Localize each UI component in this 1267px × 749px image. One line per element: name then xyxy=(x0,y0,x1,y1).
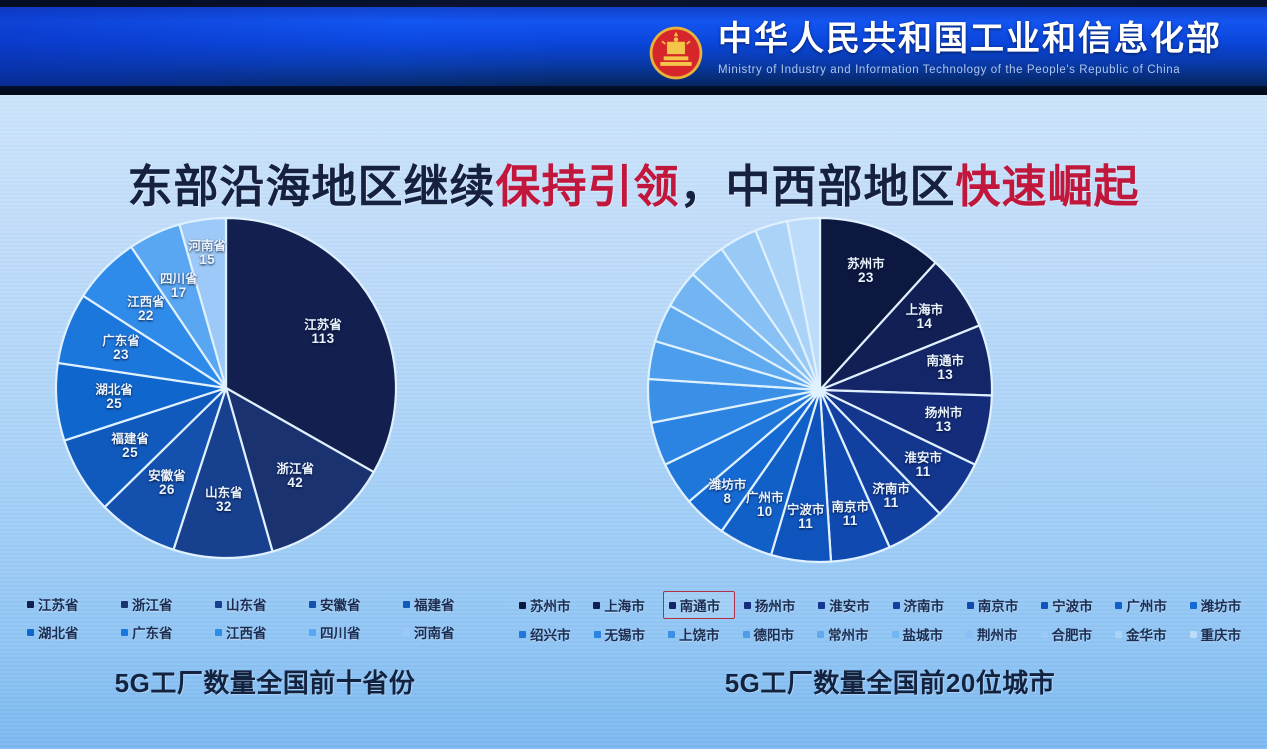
legend-label: 广州市 xyxy=(1126,595,1167,615)
headline-segment-3: ，中西部地区 xyxy=(680,161,956,212)
legend-item[interactable]: 扬州市 xyxy=(739,591,809,619)
legend-row: 苏州市上海市南通市扬州市淮安市济南市南京市宁波市广州市潍坊市 xyxy=(512,590,1257,620)
legend-item-highlighted[interactable]: 南通市 xyxy=(663,591,735,619)
legend-label: 盐城市 xyxy=(903,624,944,644)
screen-top-bezel xyxy=(0,0,1267,7)
legend-item[interactable]: 南京市 xyxy=(962,591,1032,619)
legend-item[interactable]: 江西省 xyxy=(210,619,300,645)
legend-swatch-icon xyxy=(966,631,973,638)
legend-swatch-icon xyxy=(519,602,526,609)
legend-swatch-icon xyxy=(744,602,751,609)
legend-label: 南通市 xyxy=(680,595,721,615)
legend-swatch-icon xyxy=(1115,631,1122,638)
legend-item[interactable]: 绍兴市 xyxy=(514,621,585,647)
pie-svg-provinces xyxy=(53,215,399,561)
legend-item[interactable]: 四川省 xyxy=(304,619,394,645)
legend-swatch-icon xyxy=(743,631,750,638)
legend-label: 淮安市 xyxy=(829,595,870,615)
legend-item[interactable]: 上饶市 xyxy=(663,621,734,647)
legend-label: 南京市 xyxy=(978,595,1019,615)
legend-label: 浙江省 xyxy=(132,594,173,614)
slide-screenshot: 中华人民共和国工业和信息化部 Ministry of Industry and … xyxy=(0,0,1267,749)
legend-swatch-icon xyxy=(403,601,410,608)
legend-label: 湖北省 xyxy=(38,622,79,642)
legend-item[interactable]: 广东省 xyxy=(116,619,206,645)
legend-provinces: 江苏省浙江省山东省安徽省福建省湖北省广东省江西省四川省河南省 xyxy=(20,590,490,646)
legend-label: 福建省 xyxy=(414,594,455,614)
legend-swatch-icon xyxy=(967,602,974,609)
legend-swatch-icon xyxy=(892,631,899,638)
legend-swatch-icon xyxy=(594,631,601,638)
legend-swatch-icon xyxy=(669,602,676,609)
legend-swatch-icon xyxy=(1190,631,1197,638)
legend-item[interactable]: 湖北省 xyxy=(22,619,112,645)
legend-label: 江苏省 xyxy=(38,594,79,614)
legend-label: 上海市 xyxy=(604,595,645,615)
headline-segment-1: 东部沿海地区继续 xyxy=(127,161,495,212)
legend-swatch-icon xyxy=(27,601,34,608)
legend-swatch-icon xyxy=(215,601,222,608)
legend-item[interactable]: 宁波市 xyxy=(1036,591,1106,619)
pie-svg-cities xyxy=(645,215,995,565)
legend-item[interactable]: 苏州市 xyxy=(514,591,584,619)
legend-label: 山东省 xyxy=(226,594,267,614)
legend-label: 扬州市 xyxy=(755,595,796,615)
legend-row: 湖北省广东省江西省四川省河南省 xyxy=(20,618,490,646)
banner-bottom-strip xyxy=(0,86,1267,95)
legend-cities: 苏州市上海市南通市扬州市淮安市济南市南京市宁波市广州市潍坊市绍兴市无锡市上饶市德… xyxy=(512,590,1257,648)
ministry-title-block: 中华人民共和国工业和信息化部 Ministry of Industry and … xyxy=(718,19,1222,78)
headline-segment-2: 保持引领 xyxy=(495,161,679,212)
legend-item[interactable]: 广州市 xyxy=(1110,591,1180,619)
legend-item[interactable]: 盐城市 xyxy=(887,621,958,647)
legend-item[interactable]: 安徽省 xyxy=(304,591,394,617)
legend-label: 上饶市 xyxy=(679,624,720,644)
caption-provinces: 5G工厂数量全国前十省份 xyxy=(0,663,530,700)
legend-label: 绍兴市 xyxy=(530,624,571,644)
legend-label: 河南省 xyxy=(414,622,455,642)
legend-item[interactable]: 常州市 xyxy=(812,621,883,647)
legend-row: 江苏省浙江省山东省安徽省福建省 xyxy=(20,590,490,618)
national-emblem-icon xyxy=(648,25,704,81)
legend-item[interactable]: 淮安市 xyxy=(813,591,883,619)
legend-swatch-icon xyxy=(309,601,316,608)
legend-swatch-icon xyxy=(27,629,34,636)
legend-label: 德阳市 xyxy=(754,624,795,644)
legend-label: 潍坊市 xyxy=(1201,595,1242,615)
pie-holder-cities: 苏州市23上海市14南通市13扬州市13淮安市11济南市11南京市11宁波市11… xyxy=(645,215,995,565)
ministry-banner: 中华人民共和国工业和信息化部 Ministry of Industry and … xyxy=(0,7,1267,86)
legend-swatch-icon xyxy=(1190,602,1197,609)
legend-item[interactable]: 浙江省 xyxy=(116,591,206,617)
legend-label: 金华市 xyxy=(1126,624,1167,644)
legend-item[interactable]: 德阳市 xyxy=(738,621,809,647)
caption-cities: 5G工厂数量全国前20位城市 xyxy=(520,663,1260,700)
legend-label: 无锡市 xyxy=(605,624,646,644)
legend-item[interactable]: 重庆市 xyxy=(1185,621,1256,647)
legend-swatch-icon xyxy=(1041,602,1048,609)
legend-label: 常州市 xyxy=(828,624,869,644)
legend-label: 宁波市 xyxy=(1052,595,1093,615)
legend-swatch-icon xyxy=(893,602,900,609)
legend-swatch-icon xyxy=(215,629,222,636)
legend-label: 重庆市 xyxy=(1201,624,1242,644)
legend-label: 荆州市 xyxy=(977,624,1018,644)
legend-item[interactable]: 金华市 xyxy=(1110,621,1181,647)
legend-swatch-icon xyxy=(1041,631,1048,638)
legend-swatch-icon xyxy=(121,629,128,636)
legend-swatch-icon xyxy=(817,631,824,638)
legend-item[interactable]: 河南省 xyxy=(398,619,488,645)
page-title: 东部沿海地区继续保持引领，中西部地区快速崛起 xyxy=(0,150,1267,215)
legend-label: 四川省 xyxy=(320,622,361,642)
legend-label: 济南市 xyxy=(904,595,945,615)
pie-chart-cities: 苏州市23上海市14南通市13扬州市13淮安市11济南市11南京市11宁波市11… xyxy=(645,215,1065,565)
legend-item[interactable]: 福建省 xyxy=(398,591,488,617)
pie-holder-provinces: 江苏省113浙江省42山东省32安徽省26福建省25湖北省25广东省23江西省2… xyxy=(53,215,399,561)
ministry-title-en: Ministry of Industry and Information Tec… xyxy=(718,62,1222,78)
legend-swatch-icon xyxy=(309,629,316,636)
legend-item[interactable]: 济南市 xyxy=(888,591,958,619)
legend-row: 绍兴市无锡市上饶市德阳市常州市盐城市荆州市合肥市金华市重庆市 xyxy=(512,620,1257,648)
legend-item[interactable]: 无锡市 xyxy=(589,621,660,647)
legend-label: 广东省 xyxy=(132,622,173,642)
legend-swatch-icon xyxy=(818,602,825,609)
legend-label: 安徽省 xyxy=(320,594,361,614)
legend-item[interactable]: 合肥市 xyxy=(1036,621,1107,647)
legend-item[interactable]: 荆州市 xyxy=(961,621,1032,647)
legend-swatch-icon xyxy=(668,631,675,638)
legend-swatch-icon xyxy=(403,629,410,636)
legend-item[interactable]: 山东省 xyxy=(210,591,300,617)
pie-chart-provinces: 江苏省113浙江省42山东省32安徽省26福建省25湖北省25广东省23江西省2… xyxy=(53,215,433,561)
legend-label: 合肥市 xyxy=(1052,624,1093,644)
legend-swatch-icon xyxy=(1115,602,1122,609)
legend-swatch-icon xyxy=(593,602,600,609)
legend-item[interactable]: 江苏省 xyxy=(22,591,112,617)
legend-swatch-icon xyxy=(519,631,526,638)
legend-swatch-icon xyxy=(121,601,128,608)
headline-segment-4: 快速崛起 xyxy=(956,161,1140,212)
slide-body: 东部沿海地区继续保持引领，中西部地区快速崛起 江苏省113浙江省42山东省32安… xyxy=(0,95,1267,749)
legend-label: 苏州市 xyxy=(530,595,571,615)
legend-item[interactable]: 潍坊市 xyxy=(1185,591,1255,619)
legend-label: 江西省 xyxy=(226,622,267,642)
legend-item[interactable]: 上海市 xyxy=(588,591,658,619)
ministry-title-cn: 中华人民共和国工业和信息化部 xyxy=(718,19,1222,59)
